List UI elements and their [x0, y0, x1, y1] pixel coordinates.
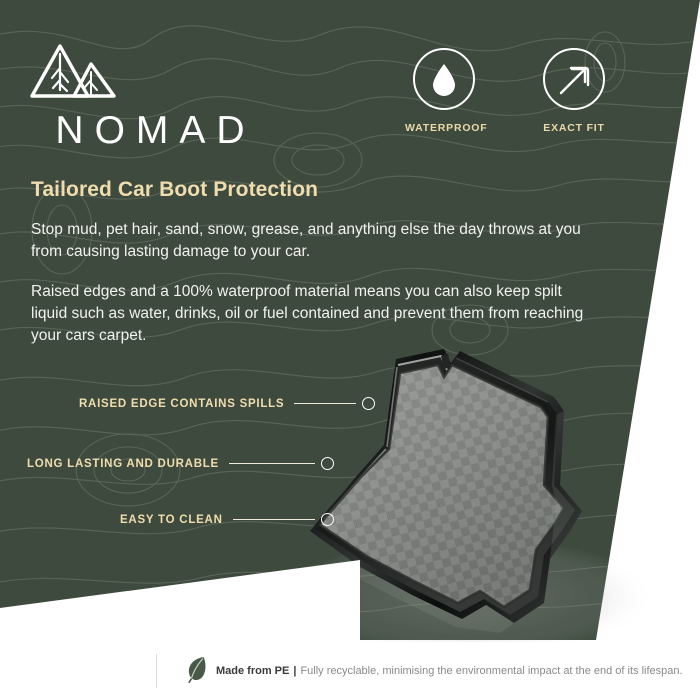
callout-easy-to-clean-label: EASY TO CLEAN — [120, 514, 223, 526]
footer-recyclable-note: Fully recyclable, minimising the environ… — [300, 665, 682, 677]
badge-waterproof: WATERPROOF — [405, 48, 483, 134]
leaf-icon — [186, 655, 207, 688]
arrow-into-corner-icon — [543, 48, 605, 110]
footer-divider — [156, 654, 157, 688]
callout-leader-line — [229, 463, 315, 465]
brand-name: NOMAD — [30, 111, 270, 150]
footer-material-label: Made from PE — [216, 665, 289, 677]
badge-exact-fit: EXACT FIT — [535, 48, 613, 134]
callout-marker-dot — [362, 397, 375, 410]
callout-raised-edge-label: RAISED EDGE CONTAINS SPILLS — [79, 398, 284, 410]
page-title: Tailored Car Boot Protection — [31, 178, 591, 202]
callout-easy-to-clean: EASY TO CLEAN — [120, 513, 334, 526]
callout-marker-dot — [321, 513, 334, 526]
callout-long-lasting-label: LONG LASTING AND DURABLE — [27, 458, 219, 470]
description-paragraph-2: Raised edges and a 100% waterproof mater… — [31, 281, 591, 347]
callout-leader-line — [294, 403, 356, 405]
badge-waterproof-label: WATERPROOF — [405, 122, 483, 134]
footer-bar: Made from PE | Fully recyclable, minimis… — [0, 642, 700, 700]
badge-exact-fit-label: EXACT FIT — [535, 122, 613, 134]
footer-separator: | — [293, 665, 296, 677]
footer-content: Made from PE | Fully recyclable, minimis… — [186, 655, 683, 688]
water-droplet-icon — [413, 48, 475, 110]
copy-block: Tailored Car Boot Protection Stop mud, p… — [31, 178, 591, 347]
callout-long-lasting: LONG LASTING AND DURABLE — [27, 457, 334, 470]
feature-badges: WATERPROOF EXACT FIT — [405, 48, 613, 134]
callout-raised-edge: RAISED EDGE CONTAINS SPILLS — [79, 397, 375, 410]
description-paragraph-1: Stop mud, pet hair, sand, snow, grease, … — [31, 219, 591, 263]
callout-leader-line — [233, 519, 315, 521]
mountain-range-icon — [30, 42, 270, 103]
brand-lockup: NOMAD — [30, 42, 270, 150]
callout-marker-dot — [321, 457, 334, 470]
product-infographic: NOMAD WATERPROOF EXACT FIT Tailor — [0, 0, 700, 700]
